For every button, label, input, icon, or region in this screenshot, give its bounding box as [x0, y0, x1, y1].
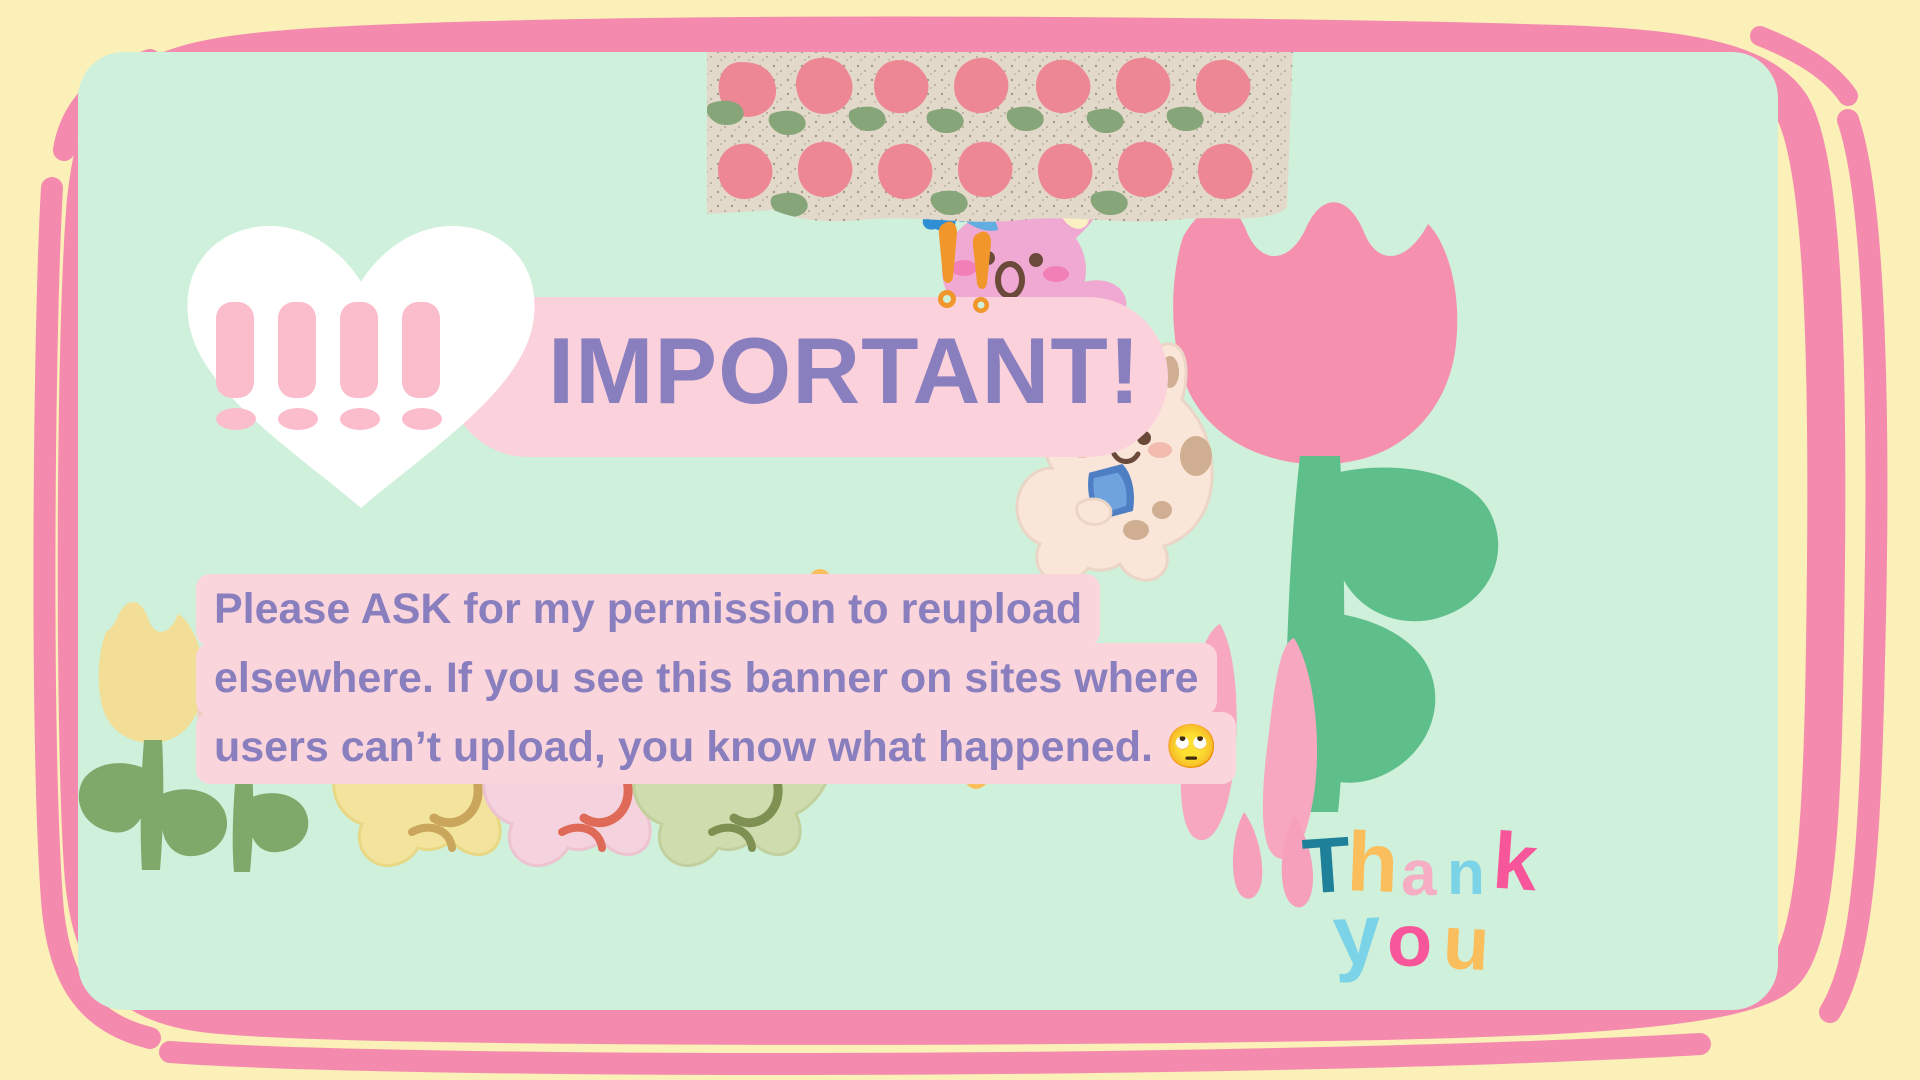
message-line-2: elsewhere. If you see this banner on sit… [196, 643, 1217, 715]
thank-you-letter-o: o [1387, 898, 1432, 983]
exclamation-group [216, 302, 506, 432]
banner-card: IMPORTANT! Please ASK for my permission … [78, 52, 1778, 1010]
exclamation-mark-3 [340, 302, 378, 432]
message-block: Please ASK for my permission to reupload… [196, 574, 1236, 781]
thank-you-letter-y: y [1330, 885, 1383, 986]
thank-you-letter-k: k [1490, 815, 1541, 910]
exclamation-mark-1 [216, 302, 254, 432]
exclamation-marks-orange [933, 217, 1003, 327]
page-title: IMPORTANT! [548, 317, 1141, 425]
message-line-3: users can’t upload, you know what happen… [196, 712, 1236, 784]
exclamation-mark-4 [402, 302, 440, 432]
banner-stage: IMPORTANT! Please ASK for my permission … [0, 0, 1920, 1080]
thank-you-letter-u: u [1441, 899, 1492, 988]
message-line-1: Please ASK for my permission to reupload [196, 574, 1100, 646]
thank-you-lettering: T h a n k y o u [1303, 812, 1593, 1010]
exclamation-mark-2 [278, 302, 316, 432]
